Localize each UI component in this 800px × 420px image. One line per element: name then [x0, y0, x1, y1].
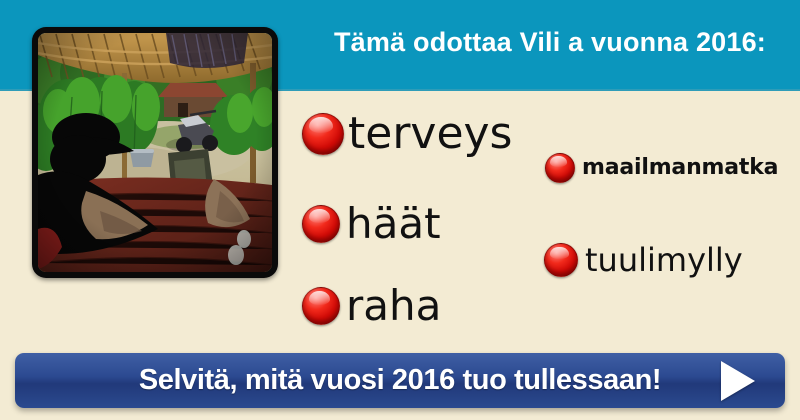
wish-item-haat: häät: [302, 203, 441, 245]
photo-illustration: [38, 33, 272, 272]
cta-button-label: Selvitä, mitä vuosi 2016 tuo tullessaan!: [139, 364, 661, 397]
promo-banner: Tämä odottaa Vili a vuonna 2016:: [0, 0, 800, 420]
wish-label: häät: [346, 203, 441, 245]
wish-item-terveys: terveys: [302, 112, 512, 156]
wish-item-maailmanmatka: maailmanmatka: [545, 153, 778, 183]
cta-button[interactable]: Selvitä, mitä vuosi 2016 tuo tullessaan!: [15, 353, 785, 408]
wish-label: maailmanmatka: [582, 156, 778, 180]
red-bullet-icon: [544, 243, 578, 277]
wish-label: raha: [346, 285, 441, 327]
photo-frame: [32, 27, 278, 278]
wish-item-raha: raha: [302, 285, 441, 327]
hammock-tropical-garden-photo: [38, 33, 272, 272]
wish-label: terveys: [348, 112, 512, 156]
page-title: Tämä odottaa Vili a vuonna 2016:: [300, 26, 800, 58]
red-bullet-icon: [302, 113, 344, 155]
play-triangle-icon: [721, 361, 755, 401]
red-bullet-icon: [545, 153, 575, 183]
red-bullet-icon: [302, 205, 340, 243]
wish-item-tuulimylly: tuulimylly: [544, 243, 743, 277]
red-bullet-icon: [302, 287, 340, 325]
wish-label: tuulimylly: [585, 243, 743, 277]
